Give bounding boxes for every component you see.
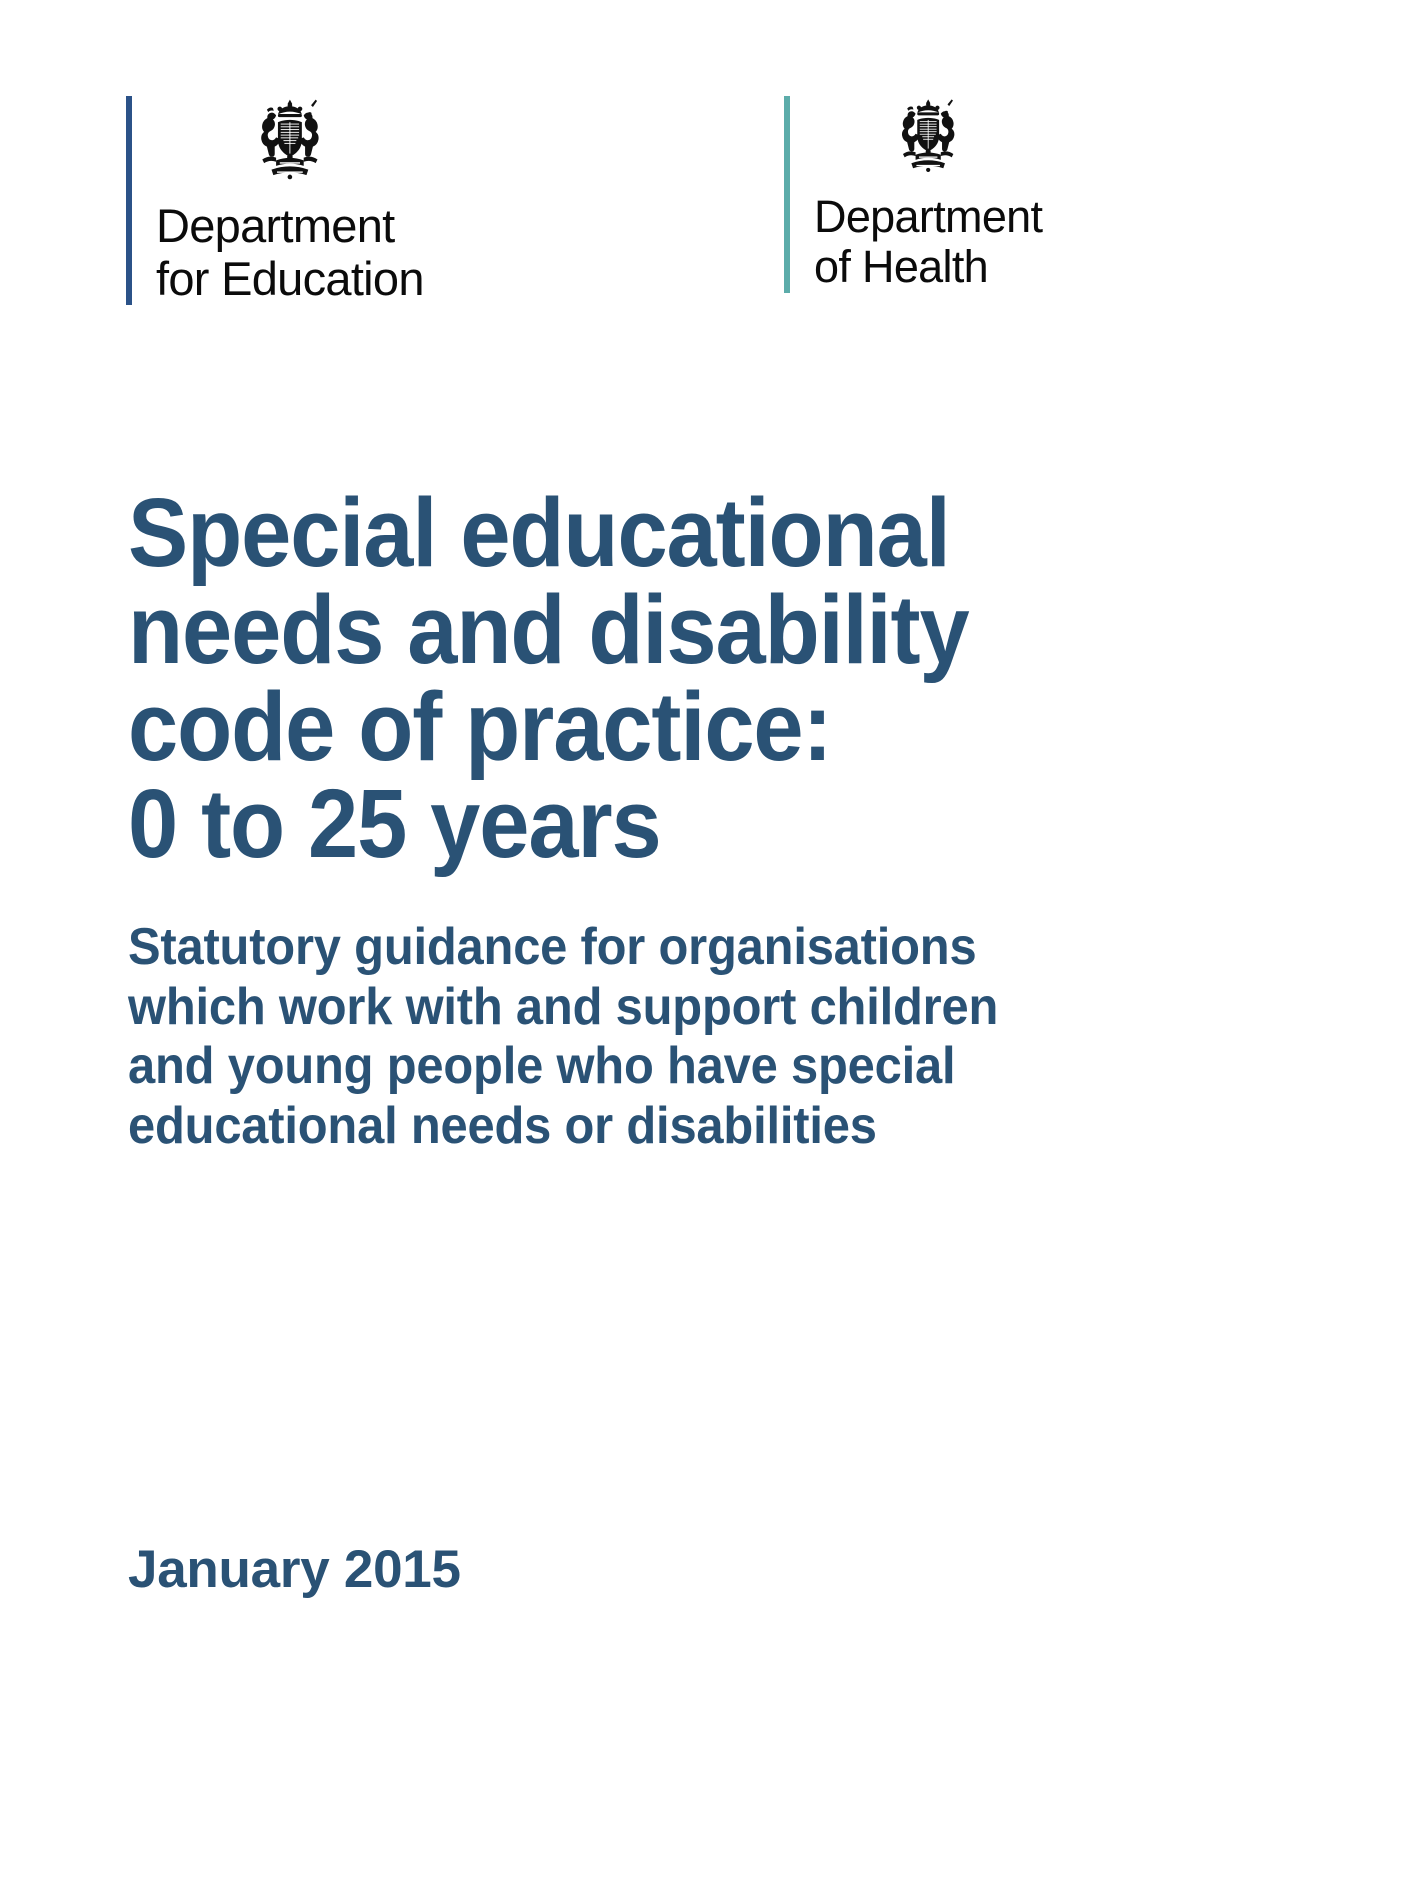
dfe-logo-body: Department for Education bbox=[132, 96, 424, 305]
doh-logo-text: Department of Health bbox=[814, 192, 1042, 293]
dfe-logo-line-1: Department bbox=[156, 200, 424, 253]
title-line-1: Special educational bbox=[128, 484, 1170, 581]
dfe-logo-text: Department for Education bbox=[156, 200, 424, 305]
doh-logo-line-1: Department bbox=[814, 192, 1042, 242]
logo-department-for-education: Department for Education bbox=[126, 96, 424, 305]
royal-coat-of-arms-icon bbox=[156, 96, 424, 188]
subtitle-line-1: Statutory guidance for organisations bbox=[128, 918, 1181, 978]
title-line-3: code of practice: bbox=[128, 678, 1170, 775]
publication-date: January 2015 bbox=[128, 1543, 461, 1596]
subtitle-line-4: educational needs or disabilities bbox=[128, 1097, 1181, 1157]
title-line-2: needs and disability bbox=[128, 581, 1170, 678]
page-subtitle: Statutory guidance for organisations whi… bbox=[128, 872, 1181, 1156]
doh-logo-line-2: of Health bbox=[814, 242, 1042, 292]
title-block: Special educational needs and disability… bbox=[128, 484, 1248, 1156]
title-line-4: 0 to 25 years bbox=[128, 775, 1170, 872]
dfe-logo-line-2: for Education bbox=[156, 253, 424, 306]
document-cover-page: Department for Education bbox=[0, 0, 1402, 1882]
royal-coat-of-arms-icon bbox=[814, 96, 1042, 180]
subtitle-line-3: and young people who have special bbox=[128, 1037, 1181, 1097]
subtitle-line-2: which work with and support children bbox=[128, 978, 1181, 1038]
page-title: Special educational needs and disability… bbox=[128, 484, 1170, 872]
doh-logo-body: Department of Health bbox=[790, 96, 1042, 293]
logo-department-of-health: Department of Health bbox=[784, 96, 1042, 293]
logo-band: Department for Education bbox=[0, 0, 1402, 300]
